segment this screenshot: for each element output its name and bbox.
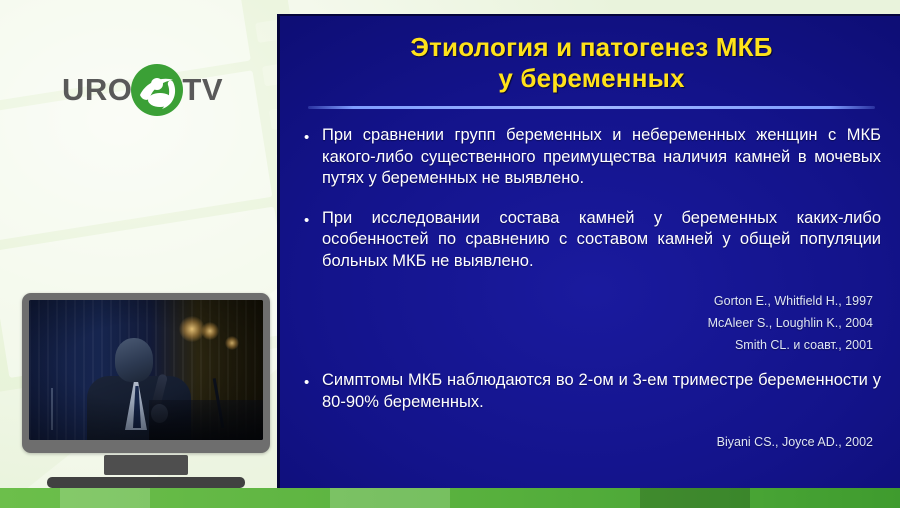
slide-title-line-2: у беременных (306, 63, 877, 94)
citation-group: Gorton E., Whitfield H., 1997 McAleer S.… (304, 290, 873, 356)
logo-text-uro: URO (62, 72, 132, 108)
slide-bullet-2: • При исследовании состава камней у бере… (304, 208, 881, 273)
presentation-viewer: URO TV (0, 0, 900, 508)
slide-body: • При сравнении групп беременных и небер… (280, 109, 900, 453)
bullet-marker-icon: • (304, 208, 322, 273)
citation-item: McAleer S., Loughlin K., 2004 (304, 312, 873, 334)
bullet-marker-icon: • (304, 370, 322, 413)
citation-item: Smith CL. и соавт., 2001 (304, 334, 873, 356)
bullet-text: При исследовании состава камней у береме… (322, 208, 881, 273)
accent-bar-facet (640, 488, 750, 508)
urotv-logo[interactable]: URO TV (62, 62, 223, 118)
slide-bullet-3: • Симптомы МКБ наблюдаются во 2-ом и 3-е… (304, 370, 881, 413)
citation-item: Gorton E., Whitfield H., 1997 (304, 290, 873, 312)
accent-bar-facet (330, 488, 450, 508)
monitor-bezel (22, 293, 270, 453)
slide-title: Этиология и патогенез МКБ у беременных (306, 32, 877, 93)
citation-item-final: Biyani CS., Joyce AD., 2002 (304, 431, 873, 453)
bullet-text: Симптомы МКБ наблюдаются во 2-ом и 3-ем … (322, 370, 881, 413)
logo-text-tv: TV (182, 72, 223, 108)
slide-bullet-1: • При сравнении групп беременных и небер… (304, 125, 881, 190)
video-vignette (29, 300, 263, 440)
accent-bar-facet (60, 488, 150, 508)
video-player-monitor[interactable] (22, 293, 270, 488)
bullet-marker-icon: • (304, 125, 322, 190)
uro-tv-green-emblem-icon (131, 64, 183, 116)
slide-title-line-1: Этиология и патогенез МКБ (306, 32, 877, 63)
monitor-neck (104, 455, 188, 475)
presentation-slide: Этиология и патогенез МКБ у беременных •… (277, 14, 900, 490)
monitor-base (47, 477, 245, 488)
bottom-accent-bar (0, 488, 900, 508)
bullet-text: При сравнении групп беременных и неберем… (322, 125, 881, 190)
video-screen[interactable] (29, 300, 263, 440)
